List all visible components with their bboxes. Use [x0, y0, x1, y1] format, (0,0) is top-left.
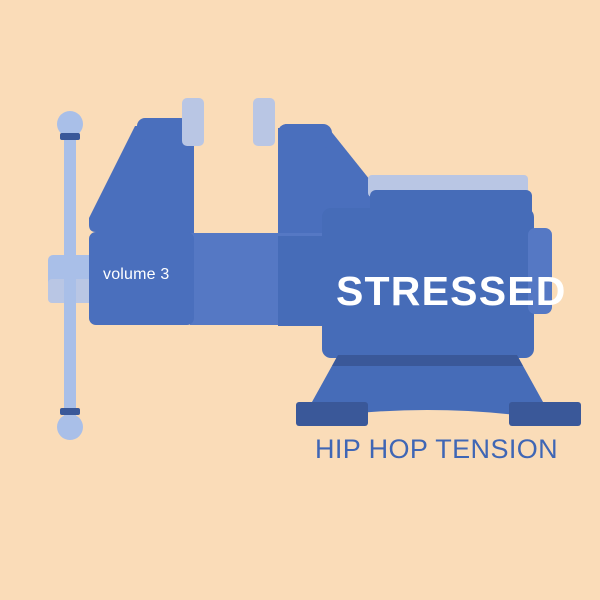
handle-ring-top [60, 133, 80, 140]
left-jaw-plate [182, 98, 204, 146]
album-subtitle: HIP HOP TENSION [315, 434, 558, 465]
foot-left [296, 402, 368, 426]
album-cover-artwork: STRESSED volume 3 HIP HOP TENSION [0, 0, 600, 600]
handle-ring-bottom [60, 408, 80, 415]
volume-label: volume 3 [103, 266, 170, 284]
album-title: STRESSED [336, 268, 567, 315]
screw-collar-group [48, 246, 96, 312]
main-body-left-step [278, 236, 338, 326]
right-jaw-plate [253, 98, 275, 146]
right-jaw-neck [278, 128, 294, 246]
screw-collar-rod-overlay [64, 246, 76, 312]
anvil-base [370, 190, 532, 226]
handle-knob-bottom-icon [57, 414, 83, 440]
base-top-shade [332, 355, 523, 366]
foot-right [509, 402, 581, 426]
